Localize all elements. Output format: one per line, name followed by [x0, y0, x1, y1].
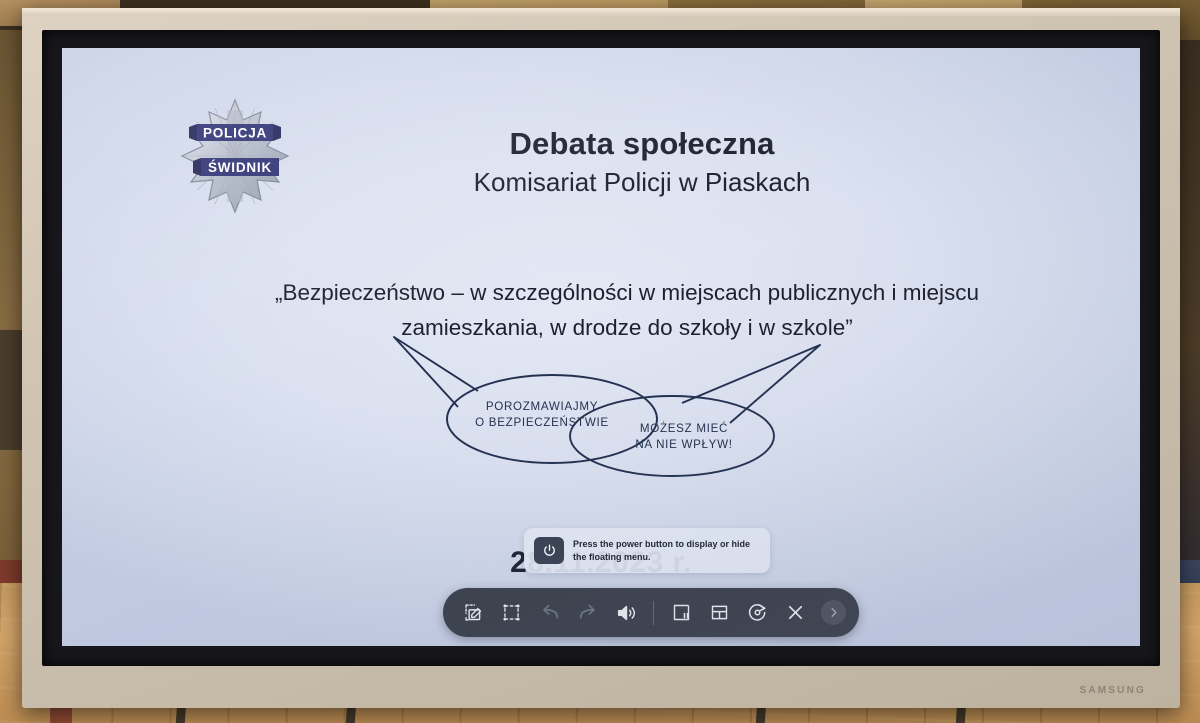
slide-title-block: Debata społeczna Komisariat Policji w Pi… — [292, 126, 992, 198]
quote-line-1: „Bezpieczeństwo – w szczególności w miej… — [182, 276, 1072, 311]
speech-bubble-right-line-2: NA NIE WPŁYW! — [635, 438, 732, 451]
badge-text-policja: POLICJA — [203, 126, 267, 141]
tv-bezel: POLICJA ŚWIDNIK Debata społeczna K — [42, 30, 1160, 666]
volume-icon[interactable] — [608, 595, 643, 630]
badge-ribbon-upper: POLICJA — [189, 124, 281, 141]
speech-bubble-right — [570, 396, 774, 476]
rotate-icon[interactable] — [740, 595, 775, 630]
page-title: Debata społeczna — [292, 126, 992, 162]
room-scene: SAMSUNG — [0, 0, 1200, 723]
speech-bubbles-graphic: POROZMAWIAJMY O BEZPIECZEŃSTWIE MOŻESZ M… — [382, 333, 852, 478]
tv-screen[interactable]: POLICJA ŚWIDNIK Debata społeczna K — [62, 48, 1140, 646]
page-subtitle: Komisariat Policji w Piaskach — [292, 166, 992, 199]
more-options-icon[interactable] — [821, 600, 846, 625]
speech-bubble-left-line-2: O BEZPIECZEŃSTWIE — [475, 416, 609, 429]
tv-frame-highlight — [22, 8, 1180, 16]
brand-logo: SAMSUNG — [1079, 685, 1146, 696]
power-button-tooltip: Press the power button to display or hid… — [524, 528, 770, 573]
badge-text-swidnik: ŚWIDNIK — [208, 160, 272, 175]
speech-bubble-right-line-1: MOŻESZ MIEĆ — [640, 422, 728, 435]
select-area-icon[interactable] — [494, 595, 529, 630]
floating-toolbar[interactable] — [443, 588, 859, 637]
annotate-icon[interactable] — [456, 595, 491, 630]
toolbar-divider — [653, 601, 654, 625]
badge-ribbon-lower: ŚWIDNIK — [193, 158, 279, 176]
undo-icon[interactable] — [532, 595, 567, 630]
freeze-screen-icon[interactable] — [664, 595, 699, 630]
police-badge-logo: POLICJA ŚWIDNIK — [175, 96, 295, 216]
television-display: SAMSUNG — [22, 8, 1180, 708]
speech-bubble-left-line-1: POROZMAWIAJMY — [486, 400, 598, 413]
power-icon — [534, 537, 564, 564]
redo-icon[interactable] — [570, 595, 605, 630]
speech-bubble-left-tail — [394, 337, 478, 407]
close-icon[interactable] — [778, 595, 813, 630]
split-screen-icon[interactable] — [702, 595, 737, 630]
tooltip-message: Press the power button to display or hid… — [573, 538, 760, 563]
